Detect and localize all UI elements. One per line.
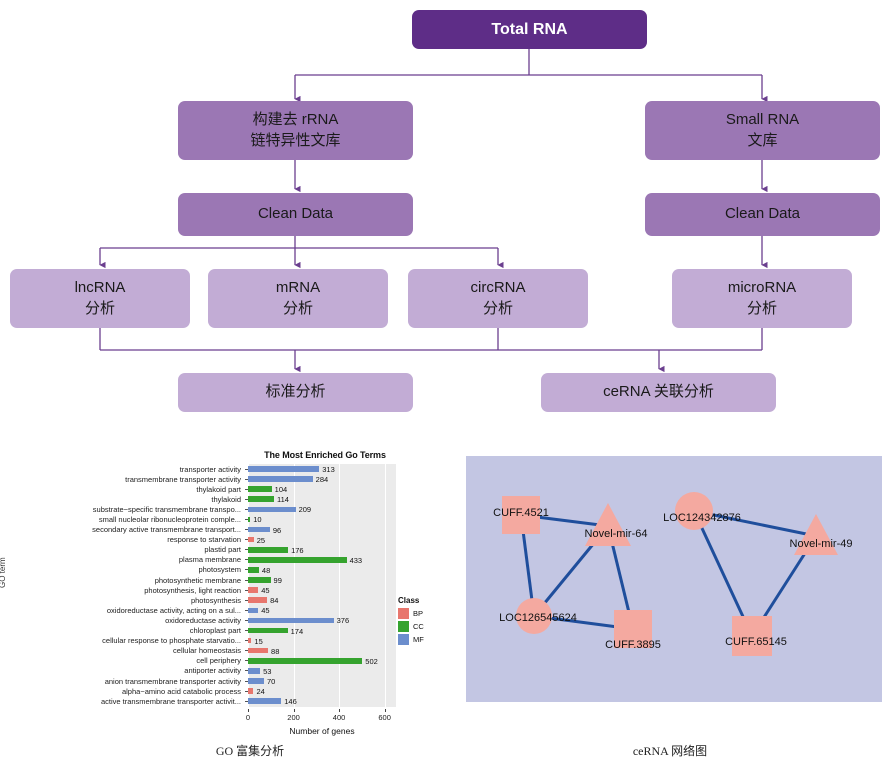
chart-category-label: active transmembrane transporter activit… — [2, 697, 245, 706]
chart-bar — [248, 678, 264, 684]
network-node-label-novel-mir-64: Novel-mir-64 — [585, 528, 648, 540]
chart-bar-value: 45 — [261, 586, 269, 595]
chart-bar — [248, 658, 362, 664]
chart-bar — [248, 476, 313, 482]
chart-category-label: thylakoid part — [2, 485, 245, 494]
chart-bar-row: oxidoreductase activity376 — [2, 615, 448, 625]
x-axis-tick — [248, 709, 249, 712]
x-axis-tick-label: 400 — [333, 713, 346, 722]
cerna-network-graph — [466, 456, 882, 702]
chart-category-label: photosystem — [2, 565, 245, 574]
chart-bar-value: 176 — [291, 546, 304, 555]
chart-bar-value: 284 — [316, 475, 329, 484]
chart-bar-value: 99 — [274, 576, 282, 585]
flow-node-lncrna-analysis: lncRNA 分析 — [10, 269, 190, 328]
network-node-label-cuff-3895: CUFF.3895 — [605, 639, 661, 651]
flow-node-label: lncRNA 分析 — [75, 278, 126, 319]
chart-category-label: plasma membrane — [2, 555, 245, 564]
flow-node-mrna-analysis: mRNA 分析 — [208, 269, 388, 328]
chart-bar — [248, 486, 272, 492]
flow-node-standard-analysis: 标准分析 — [178, 373, 413, 412]
legend-label: CC — [413, 622, 424, 631]
chart-category-label: photosynthesis, light reaction — [2, 586, 245, 595]
chart-category-label: antiporter activity — [2, 666, 245, 675]
chart-bar-row: photosystem48 — [2, 565, 448, 575]
chart-bar-value: 70 — [267, 677, 275, 686]
chart-bar-row: thylakoid part104 — [2, 484, 448, 494]
chart-bar-value: 48 — [262, 566, 270, 575]
flow-node-clean-data-right: Clean Data — [645, 193, 880, 236]
chart-bar-row: substrate−specific transmembrane transpo… — [2, 504, 448, 514]
chart-category-label: thylakoid — [2, 495, 245, 504]
chart-category-label: plastid part — [2, 545, 245, 554]
chart-bar-row: response to starvation25 — [2, 535, 448, 545]
chart-bar-value: 25 — [257, 536, 265, 545]
network-node-label-novel-mir-49: Novel-mir-49 — [790, 538, 853, 550]
chart-bar — [248, 668, 260, 674]
chart-bar-value: 88 — [271, 647, 279, 656]
x-axis-tick-label: 600 — [378, 713, 391, 722]
chart-bar-row: small nucleolar ribonucleoprotein comple… — [2, 514, 448, 524]
flow-node-label: mRNA 分析 — [276, 278, 320, 319]
chart-bar-row: thylakoid114 — [2, 494, 448, 504]
chart-bars: transporter activity313transmembrane tra… — [2, 464, 448, 706]
chart-category-label: response to starvation — [2, 535, 245, 544]
chart-bar-value: 174 — [291, 627, 304, 636]
flow-node-label: Small RNA 文库 — [726, 110, 799, 151]
chart-bar-value: 10 — [253, 515, 261, 524]
legend-swatch — [398, 608, 409, 619]
chart-bar — [248, 517, 250, 523]
chart-bar — [248, 618, 334, 624]
flow-node-label: circRNA 分析 — [471, 278, 526, 319]
chart-x-axis-label: Number of genes — [248, 726, 396, 736]
chart-bar-row: cell periphery502 — [2, 656, 448, 666]
chart-bar-row: plastid part176 — [2, 545, 448, 555]
chart-category-label: photosynthesis — [2, 596, 245, 605]
x-axis-tick-label: 200 — [287, 713, 300, 722]
chart-category-label: small nucleolar ribonucleoprotein comple… — [2, 515, 245, 524]
cerna-network-figure: CUFF.4521Novel-mir-64LOC126545624CUFF.38… — [466, 456, 882, 702]
chart-bar-value: 433 — [350, 556, 363, 565]
chart-bar-row: alpha−amino acid catabolic process24 — [2, 686, 448, 696]
chart-bar — [248, 587, 258, 593]
network-node-label-loc126545624: LOC126545624 — [499, 612, 577, 624]
chart-bar — [248, 577, 271, 583]
chart-bar-value: 84 — [270, 596, 278, 605]
chart-bar-value: 53 — [263, 667, 271, 676]
chart-bar-value: 502 — [365, 657, 378, 666]
x-axis-tick-label: 0 — [246, 713, 250, 722]
chart-category-label: transmembrane transporter activity — [2, 475, 245, 484]
figures-row: The Most Enriched Go Terms GO term trans… — [0, 446, 886, 766]
chart-bar-row: photosynthesis84 — [2, 595, 448, 605]
chart-category-label: oxidoreductase activity, acting on a sul… — [2, 606, 245, 615]
legend-label: BP — [413, 609, 423, 618]
chart-category-label: cell periphery — [2, 656, 245, 665]
flow-node-microrna-analysis: microRNA 分析 — [672, 269, 852, 328]
chart-title: The Most Enriched Go Terms — [250, 450, 400, 460]
flow-node-label: 构建去 rRNA 链特异性文库 — [250, 110, 340, 151]
chart-bar-value: 104 — [275, 485, 288, 494]
legend-title: Class — [398, 596, 424, 605]
chart-bar — [248, 648, 268, 654]
flow-node-label: 标准分析 — [265, 382, 325, 402]
chart-legend: Class BPCCMF — [398, 596, 424, 647]
chart-category-label: photosynthetic membrane — [2, 576, 245, 585]
chart-bar-row: plasma membrane433 — [2, 555, 448, 565]
network-node-label-cuff-65145: CUFF.65145 — [725, 636, 787, 648]
chart-bar-value: 146 — [284, 697, 297, 706]
chart-bar-row: chloroplast part174 — [2, 626, 448, 636]
legend-swatch — [398, 634, 409, 645]
network-node-label-loc124342876: LOC124342876 — [663, 512, 741, 524]
flow-node-clean-data-left: Clean Data — [178, 193, 413, 236]
chart-category-label: cellular homeostasis — [2, 646, 245, 655]
chart-bar-row: transporter activity313 — [2, 464, 448, 474]
chart-bar-row: photosynthetic membrane99 — [2, 575, 448, 585]
chart-bar — [248, 698, 281, 704]
chart-bar-value: 45 — [261, 606, 269, 615]
flow-node-total-rna: Total RNA — [412, 10, 647, 49]
chart-bar-value: 15 — [254, 637, 262, 646]
chart-category-label: cellular response to phosphate starvatio… — [2, 636, 245, 645]
flow-node-circrna-analysis: circRNA 分析 — [408, 269, 588, 328]
chart-bar — [248, 688, 253, 694]
chart-x-axis: 0200400600 — [248, 709, 396, 725]
flow-node-label: microRNA 分析 — [728, 278, 796, 319]
chart-bar-row: cellular homeostasis88 — [2, 646, 448, 656]
chart-bar-value: 114 — [277, 495, 289, 504]
flow-node-rrna-library: 构建去 rRNA 链特异性文库 — [178, 101, 413, 160]
chart-bar-value: 376 — [337, 616, 350, 625]
caption-go-enrichment: GO 富集分析 — [150, 742, 350, 759]
chart-bar-value: 24 — [256, 687, 264, 696]
legend-swatch — [398, 621, 409, 632]
chart-bar-value: 209 — [299, 505, 312, 514]
chart-bar-row: active transmembrane transporter activit… — [2, 696, 448, 706]
flow-node-cerna-analysis: ceRNA 关联分析 — [541, 373, 776, 412]
chart-bar — [248, 628, 288, 634]
x-axis-tick — [385, 709, 386, 712]
network-node-label-cuff-4521: CUFF.4521 — [493, 507, 549, 519]
chart-category-label: substrate−specific transmembrane transpo… — [2, 505, 245, 514]
chart-bar-row: cellular response to phosphate starvatio… — [2, 636, 448, 646]
chart-bar-row: antiporter activity53 — [2, 666, 448, 676]
caption-cerna-network: ceRNA 网络图 — [570, 742, 770, 759]
chart-bar — [248, 537, 254, 543]
chart-bar-value: 96 — [273, 526, 281, 535]
chart-bar-value: 313 — [322, 465, 335, 474]
chart-category-label: secondary active transmembrane transport… — [2, 525, 245, 534]
chart-bar — [248, 496, 274, 502]
flow-node-label: ceRNA 关联分析 — [603, 382, 714, 402]
chart-bar — [248, 567, 259, 573]
chart-bar — [248, 608, 258, 614]
flow-node-label: Total RNA — [491, 19, 567, 41]
chart-bar — [248, 547, 288, 553]
chart-category-label: alpha−amino acid catabolic process — [2, 687, 245, 696]
chart-category-label: chloroplast part — [2, 626, 245, 635]
chart-bar-row: oxidoreductase activity, acting on a sul… — [2, 605, 448, 615]
network-node-loc124342876[interactable] — [675, 492, 713, 530]
chart-bar — [248, 638, 251, 644]
chart-category-label: anion transmembrane transporter activity — [2, 677, 245, 686]
flow-node-smallrna-library: Small RNA 文库 — [645, 101, 880, 160]
workflow-diagram: Total RNA 构建去 rRNA 链特异性文库 Small RNA 文库 C… — [0, 0, 886, 440]
legend-item-bp[interactable]: BP — [398, 608, 424, 619]
go-enrichment-chart: The Most Enriched Go Terms GO term trans… — [2, 450, 448, 738]
flow-node-label: Clean Data — [258, 204, 333, 224]
chart-bar — [248, 557, 347, 563]
chart-bar-row: anion transmembrane transporter activity… — [2, 676, 448, 686]
flow-node-label: Clean Data — [725, 204, 800, 224]
chart-bar-row: transmembrane transporter activity284 — [2, 474, 448, 484]
legend-item-mf[interactable]: MF — [398, 634, 424, 645]
chart-bar — [248, 507, 296, 513]
legend-item-cc[interactable]: CC — [398, 621, 424, 632]
chart-category-label: transporter activity — [2, 465, 245, 474]
chart-bar — [248, 597, 267, 603]
chart-bar — [248, 466, 319, 472]
chart-category-label: oxidoreductase activity — [2, 616, 245, 625]
legend-label: MF — [413, 635, 424, 644]
chart-bar — [248, 527, 270, 533]
x-axis-tick — [339, 709, 340, 712]
chart-bar-row: secondary active transmembrane transport… — [2, 525, 448, 535]
x-axis-tick — [294, 709, 295, 712]
chart-bar-row: photosynthesis, light reaction45 — [2, 585, 448, 595]
